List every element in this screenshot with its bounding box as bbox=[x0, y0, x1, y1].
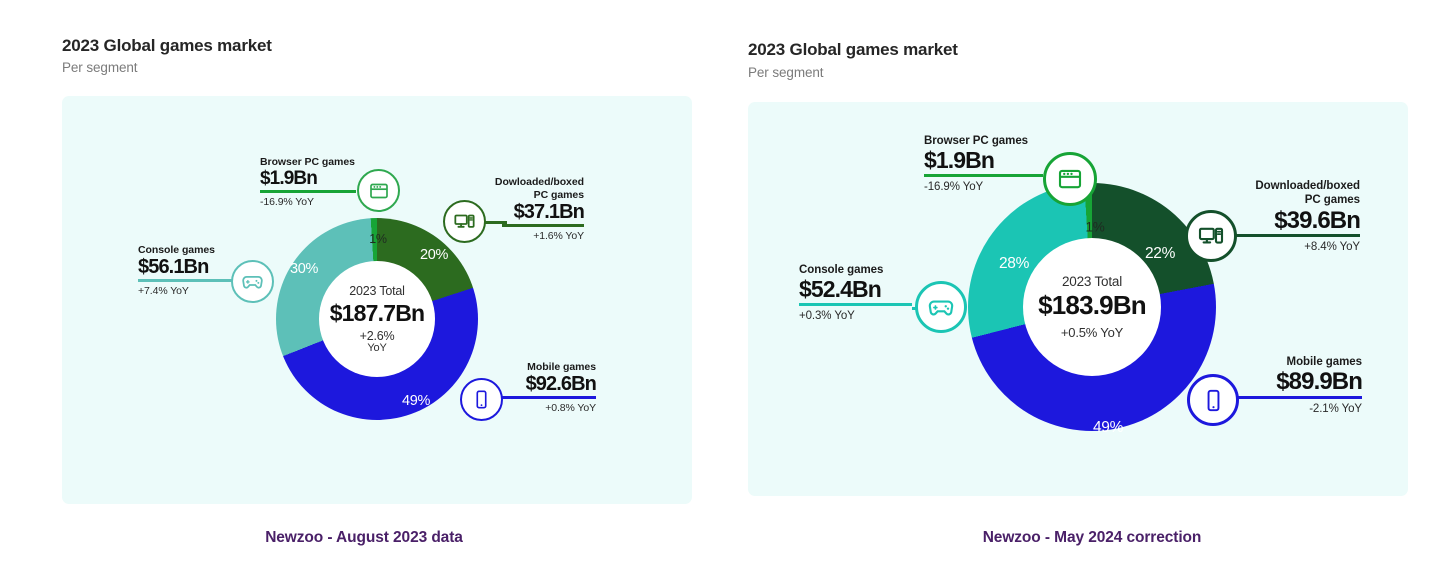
gamepad-icon-badge bbox=[915, 281, 967, 333]
donut-center-label: 2023 Total $183.9Bn +0.5% YoY bbox=[1023, 238, 1161, 376]
segment-value: $89.9Bn bbox=[1232, 369, 1362, 395]
smartphone-icon bbox=[470, 388, 493, 411]
segment-name-line1: Dowloaded/boxed bbox=[452, 176, 584, 189]
browser-window-icon-badge bbox=[1043, 152, 1097, 206]
segment-value: $1.9Bn bbox=[924, 148, 1043, 173]
percent-browser: 1% bbox=[1086, 220, 1105, 235]
browser-window-icon-badge bbox=[357, 169, 400, 212]
percent-downloaded: 20% bbox=[420, 247, 448, 263]
source-caption: Newzoo - May 2024 correction bbox=[728, 529, 1456, 547]
center-yoy: +2.6% bbox=[360, 330, 395, 343]
segment-yoy: +0.3% YoY bbox=[799, 306, 912, 325]
page-title: 2023 Global games market bbox=[62, 36, 272, 56]
smartphone-icon bbox=[1200, 387, 1227, 414]
center-yoy-unit: YoY bbox=[367, 343, 386, 355]
segment-name: Browser PC games bbox=[924, 134, 1043, 148]
smartphone-icon-badge bbox=[1187, 374, 1239, 426]
desktop-pc-icon-badge bbox=[443, 200, 486, 243]
page-subtitle: Per segment bbox=[748, 65, 823, 80]
center-yoy: +0.5% YoY bbox=[1061, 326, 1123, 340]
donut-center-label: 2023 Total $187.7Bn +2.6% YoY bbox=[319, 261, 435, 377]
source-caption: Newzoo - August 2023 data bbox=[0, 529, 728, 547]
segment-name-line2: PC games bbox=[1222, 193, 1360, 207]
percent-mobile: 49% bbox=[1093, 419, 1123, 437]
percent-downloaded: 22% bbox=[1145, 245, 1175, 263]
desktop-pc-icon-badge bbox=[1185, 210, 1237, 262]
percent-browser: 1% bbox=[369, 232, 386, 246]
connector-downloaded bbox=[485, 221, 507, 224]
browser-window-icon bbox=[1055, 164, 1085, 194]
center-caption: 2023 Total bbox=[1062, 274, 1122, 289]
panel-august-2023: 2023 Global games market Per segment 202… bbox=[0, 0, 728, 582]
callout-console: Console games $56.1Bn +7.4% YoY bbox=[138, 244, 236, 300]
desktop-pc-icon bbox=[1196, 221, 1226, 251]
callout-mobile: Mobile games $89.9Bn -2.1% YoY bbox=[1232, 355, 1362, 418]
percent-mobile: 49% bbox=[402, 393, 430, 409]
segment-yoy: +8.4% YoY bbox=[1222, 237, 1360, 256]
smartphone-icon-badge bbox=[460, 378, 503, 421]
segment-yoy: -16.9% YoY bbox=[260, 193, 356, 211]
gamepad-icon bbox=[926, 292, 956, 322]
segment-yoy: -16.9% YoY bbox=[924, 177, 1043, 196]
page-subtitle: Per segment bbox=[62, 60, 137, 75]
segment-name: Mobile games bbox=[1232, 355, 1362, 369]
segment-value: $52.4Bn bbox=[799, 277, 912, 302]
segment-value: $1.9Bn bbox=[260, 169, 356, 190]
comparison-figure: 2023 Global games market Per segment 202… bbox=[0, 0, 1456, 582]
segment-value: $56.1Bn bbox=[138, 257, 236, 279]
browser-window-icon bbox=[367, 179, 391, 203]
panel-may-2024: 2023 Global games market Per segment 202… bbox=[728, 0, 1456, 582]
gamepad-icon bbox=[240, 269, 265, 294]
page-title: 2023 Global games market bbox=[748, 40, 958, 60]
percent-console: 30% bbox=[290, 261, 318, 277]
desktop-pc-icon bbox=[452, 209, 477, 234]
center-caption: 2023 Total bbox=[349, 284, 404, 298]
center-total: $183.9Bn bbox=[1038, 292, 1146, 319]
percent-console: 28% bbox=[999, 255, 1029, 273]
callout-downloaded: Downloaded/boxed PC games $39.6Bn +8.4% … bbox=[1222, 179, 1360, 256]
segment-name: Console games bbox=[799, 263, 912, 277]
center-total: $187.7Bn bbox=[330, 301, 425, 325]
callout-console: Console games $52.4Bn +0.3% YoY bbox=[799, 263, 912, 325]
segment-value: $39.6Bn bbox=[1222, 208, 1360, 234]
gamepad-icon-badge bbox=[231, 260, 274, 303]
callout-browser: Browser PC games $1.9Bn -16.9% YoY bbox=[260, 156, 356, 211]
segment-yoy: -2.1% YoY bbox=[1232, 399, 1362, 418]
segment-yoy: +7.4% YoY bbox=[138, 282, 236, 300]
callout-browser: Browser PC games $1.9Bn -16.9% YoY bbox=[924, 134, 1043, 196]
segment-name-line1: Downloaded/boxed bbox=[1222, 179, 1360, 193]
